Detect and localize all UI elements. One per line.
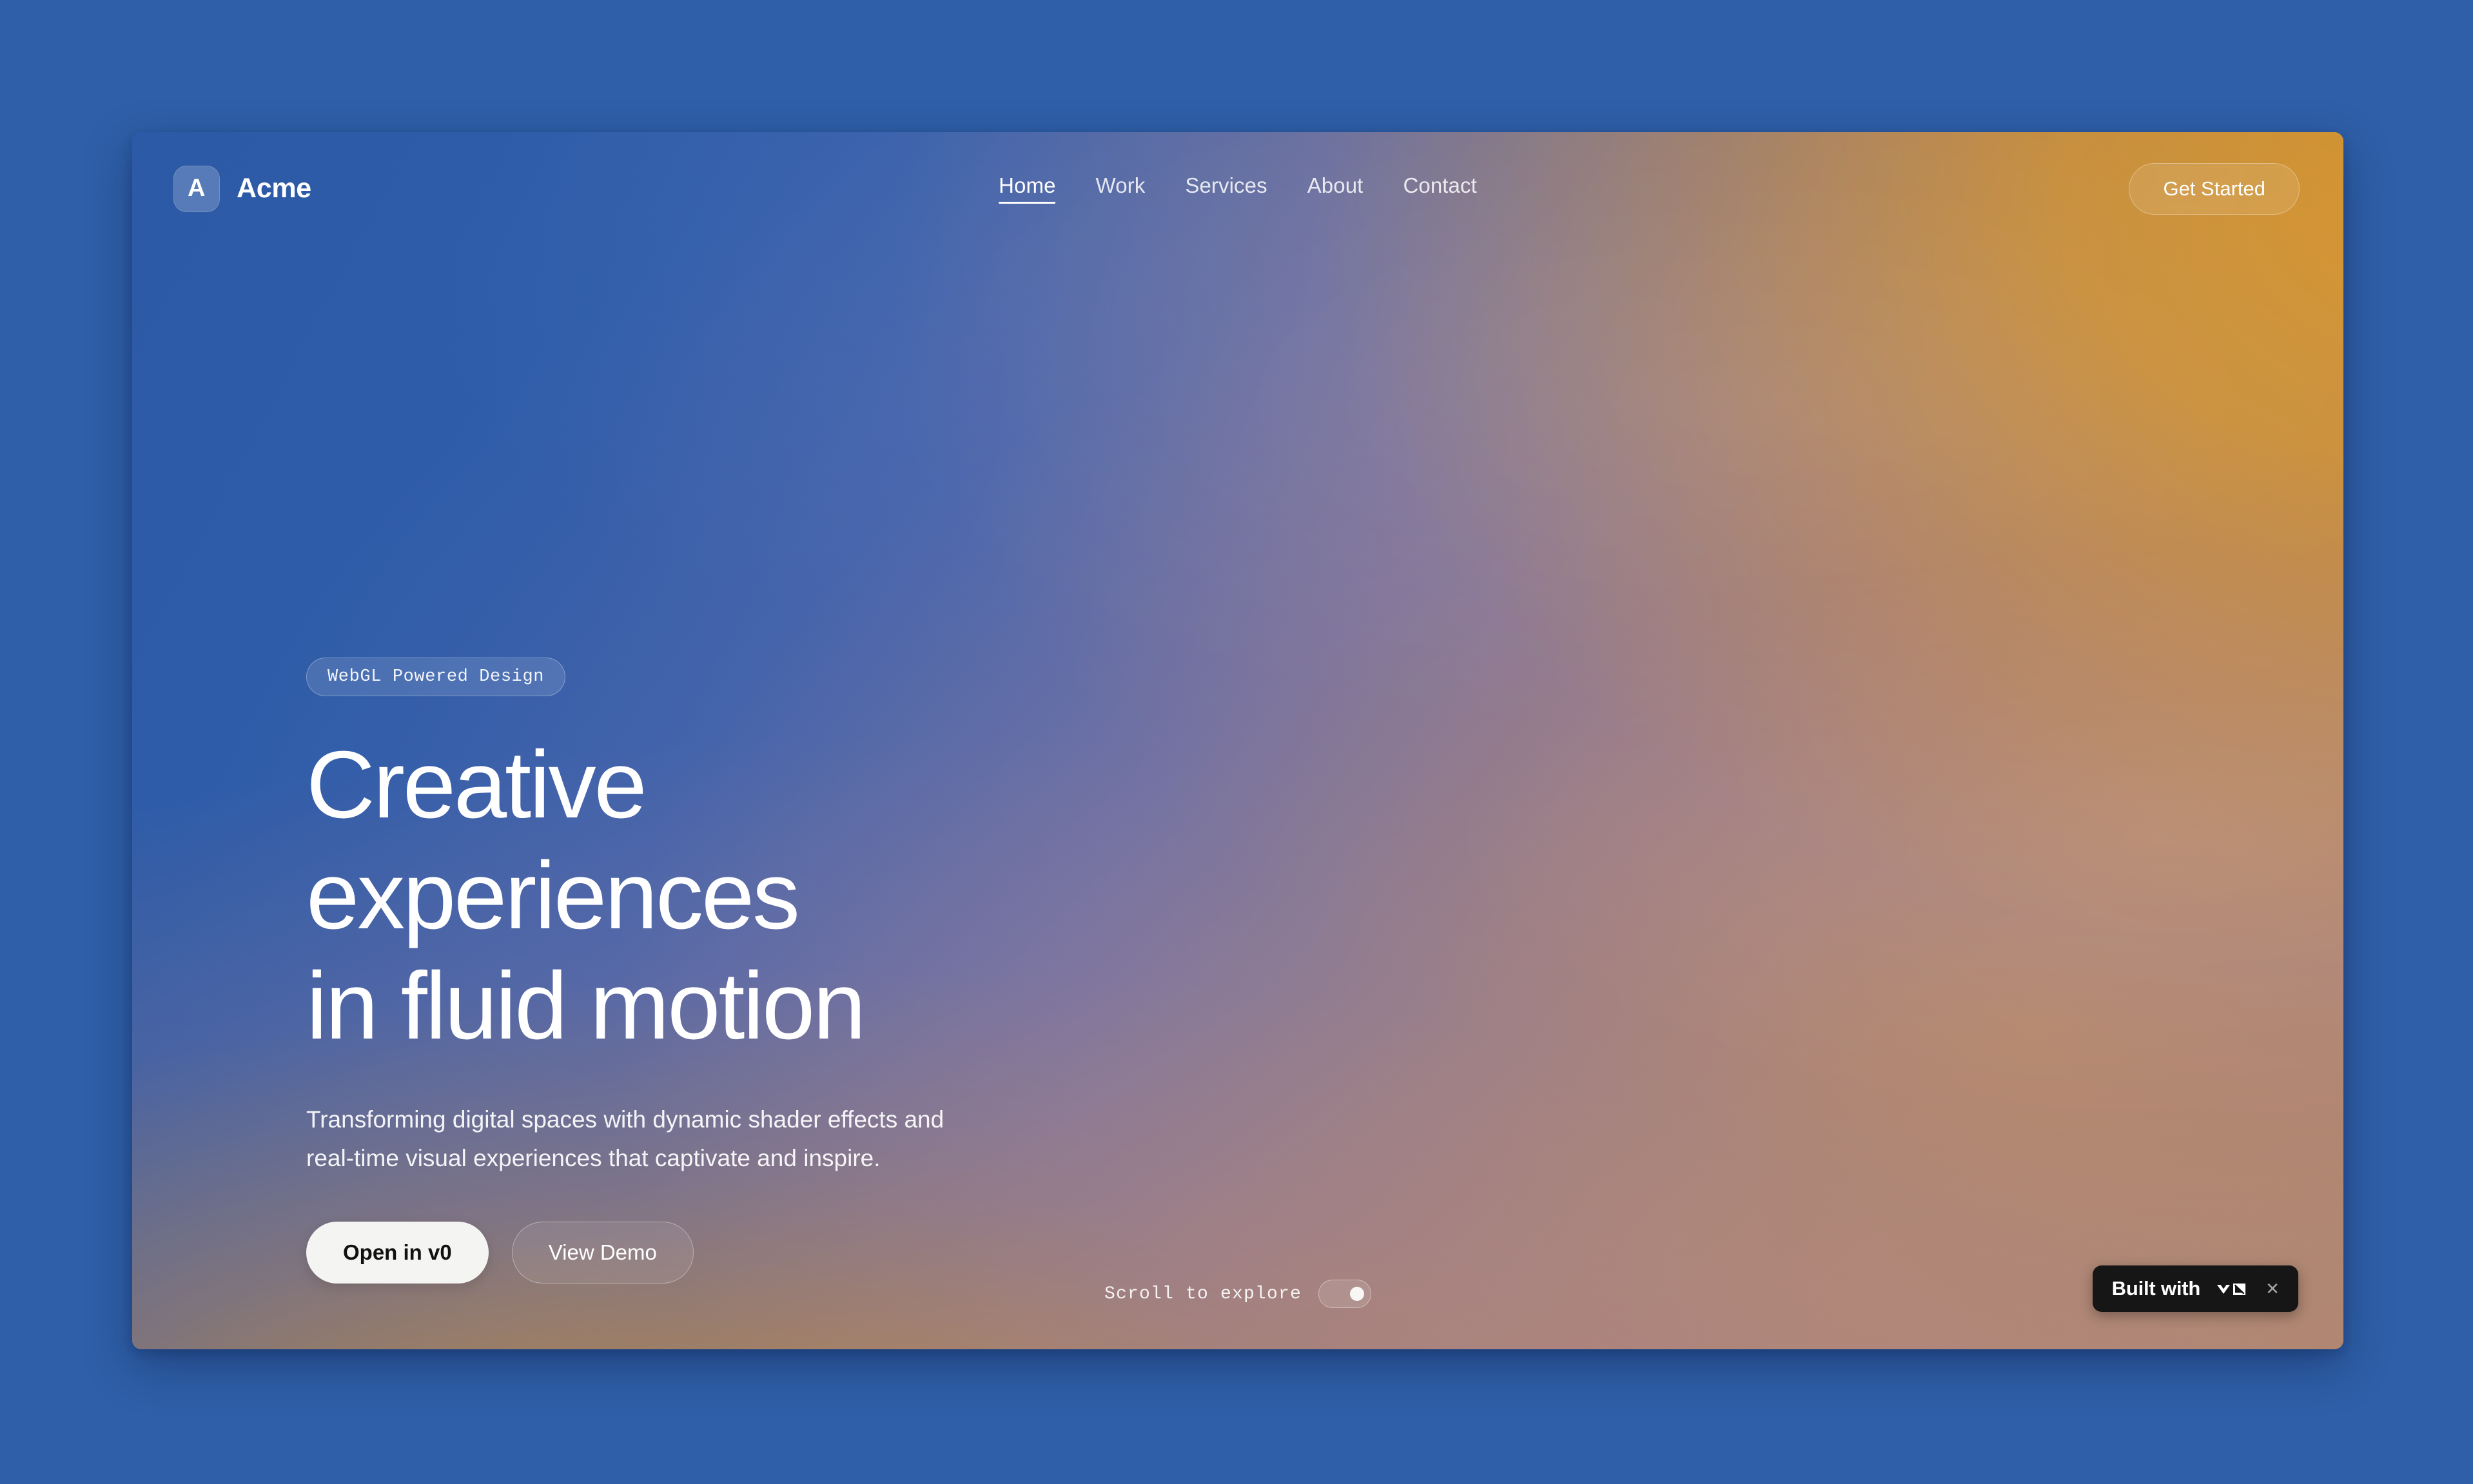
hero-section: WebGL Powered Design Creative experience… (306, 658, 944, 1284)
app-card: A Acme Home Work Services About Contact … (132, 132, 2343, 1349)
scroll-track-icon[interactable] (1318, 1280, 1371, 1308)
hero-actions: Open in v0 View Demo (306, 1222, 944, 1284)
hero-headline: Creative experiences in fluid motion (306, 730, 944, 1062)
brand-name: Acme (237, 173, 311, 204)
scroll-indicator-label: Scroll to explore (1104, 1284, 1302, 1304)
hero-headline-line-3: in fluid motion (306, 951, 944, 1062)
built-with-badge[interactable]: Built with × (2093, 1265, 2298, 1312)
hero-subtitle-line-1: Transforming digital spaces with dynamic… (306, 1100, 944, 1139)
nav-item-home[interactable]: Home (999, 173, 1055, 204)
hero-headline-line-1: Creative (306, 730, 944, 841)
hero-headline-line-2: experiences (306, 841, 944, 952)
scroll-knob-icon (1350, 1287, 1364, 1301)
hero-subtitle-line-2: real-time visual experiences that captiv… (306, 1139, 944, 1178)
close-icon[interactable]: × (2263, 1278, 2282, 1300)
nav-item-about[interactable]: About (1307, 173, 1364, 204)
site-header: A Acme Home Work Services About Contact … (132, 132, 2343, 245)
hero-subtitle: Transforming digital spaces with dynamic… (306, 1100, 944, 1178)
nav-item-contact[interactable]: Contact (1403, 173, 1476, 204)
v0-logo-icon (2216, 1279, 2248, 1298)
brand-mark-icon: A (173, 166, 220, 212)
main-nav: Home Work Services About Contact (999, 173, 1477, 204)
hero-badge: WebGL Powered Design (306, 658, 565, 696)
open-in-v0-button[interactable]: Open in v0 (306, 1222, 489, 1284)
view-demo-button[interactable]: View Demo (512, 1222, 694, 1284)
get-started-button[interactable]: Get Started (2129, 163, 2300, 215)
scroll-indicator[interactable]: Scroll to explore (1104, 1280, 1371, 1308)
nav-item-services[interactable]: Services (1185, 173, 1267, 204)
hero-badge-label: WebGL Powered Design (327, 667, 544, 687)
nav-item-work[interactable]: Work (1096, 173, 1146, 204)
built-with-label: Built with (2112, 1277, 2200, 1300)
brand-logo[interactable]: A Acme (173, 166, 311, 212)
brand-mark-letter: A (188, 175, 206, 202)
